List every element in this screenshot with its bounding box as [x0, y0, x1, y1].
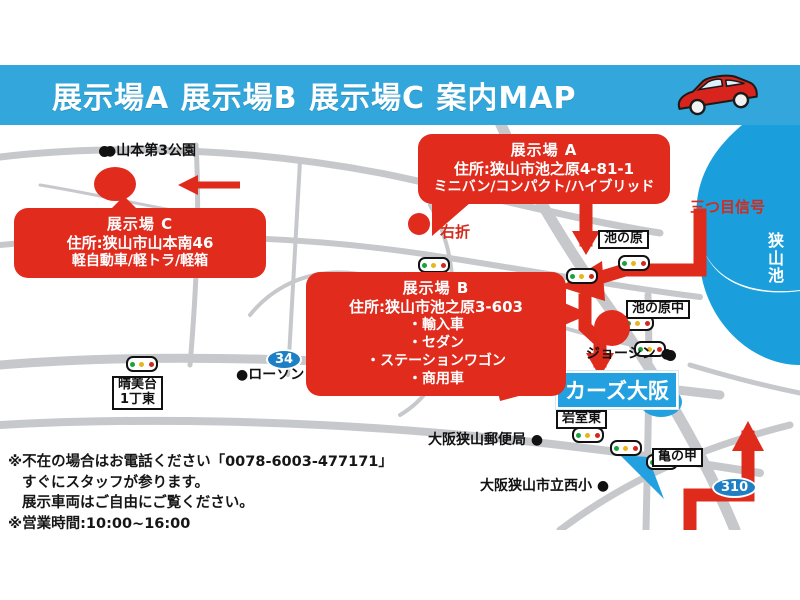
route-shield-310: 310 [712, 477, 757, 498]
signal-icon [418, 257, 450, 273]
marker-showroom-a [408, 213, 430, 235]
signal-icon [618, 255, 650, 271]
label-intersection-harumidai: 晴美台1丁東 [112, 376, 163, 410]
label-intersection-ikenohara: 池の原 [598, 230, 649, 249]
signal-icon [126, 356, 158, 372]
callout-address: 住所:狭山市池之原4-81-1 [428, 160, 660, 179]
callout-item: ・ステーションワゴン [316, 353, 556, 371]
footer-line-4: ※営業時間:10:00~16:00 [8, 514, 393, 535]
signal-icon [610, 440, 642, 456]
header-banner: 展示場A 展示場B 展示場C 案内MAP [0, 65, 800, 125]
callout-showroom-a: 展示場 A 住所:狭山市池之原4-81-1 ミニバン/コンパクト/ハイブリッド [418, 134, 670, 204]
red-car-icon [670, 73, 762, 119]
footer-line-2: すぐにスタッフが参ります。 [8, 473, 393, 494]
callout-showroom-b: 展示場 B 住所:狭山市池之原3-603 ・輸入車 ・セダン ・ステーションワゴ… [306, 272, 566, 396]
callout-item: ・輸入車 [316, 317, 556, 335]
callout-item: 軽自動車/軽トラ/軽箱 [24, 253, 256, 271]
callout-item: ・商用車 [316, 371, 556, 389]
label-park: ●山本第3公園 [104, 140, 196, 160]
marker-showroom-b [594, 310, 630, 346]
callout-address: 住所:狭山市池之原3-603 [316, 298, 556, 317]
label-third-signal: 三つ目信号 [690, 196, 765, 217]
label-intersection-iwamurohigashi: 岩室東 [556, 410, 607, 429]
callout-showroom-c: 展示場 C 住所:狭山市山本南46 軽自動車/軽トラ/軽箱 [14, 208, 266, 278]
label-post-office: 大阪狭山郵便局 ● [428, 429, 543, 449]
signal-icon [566, 268, 598, 284]
label-joshin: ジョーシン ● [586, 343, 673, 363]
callout-title: 展示場 A [428, 141, 660, 160]
label-intersection-kamenoko: 亀の甲 [652, 448, 703, 467]
signal-icon [572, 427, 604, 443]
page-title: 展示場A 展示場B 展示場C 案内MAP [52, 73, 577, 117]
map-page: 34 310 展示場A 展示場B 展示場C 案内MAP 展示場 C 住所:狭山市… [0, 0, 800, 600]
label-intersection-ikenoharanaka: 池の原中 [626, 300, 690, 319]
footer-line-3: 展示車両はご自由にご覧ください。 [8, 493, 393, 514]
callout-title: 展示場 C [24, 215, 256, 234]
callout-item: ・セダン [316, 335, 556, 353]
callout-title: 展示場 B [316, 279, 556, 298]
footer-notes: ※不在の場合はお電話ください「0078-6003-477171」 すぐにスタッフ… [8, 452, 393, 534]
route-shield-34: 34 [266, 349, 302, 370]
callout-item: ミニバン/コンパクト/ハイブリッド [428, 179, 660, 197]
label-school: 大阪狭山市立西小 ● [480, 475, 609, 495]
footer-line-1: ※不在の場合はお電話ください「0078-6003-477171」 [8, 452, 393, 473]
callout-address: 住所:狭山市山本南46 [24, 234, 256, 253]
label-lake: 狭山池 [766, 232, 786, 285]
store-name-label: カーズ大阪 [556, 371, 678, 409]
